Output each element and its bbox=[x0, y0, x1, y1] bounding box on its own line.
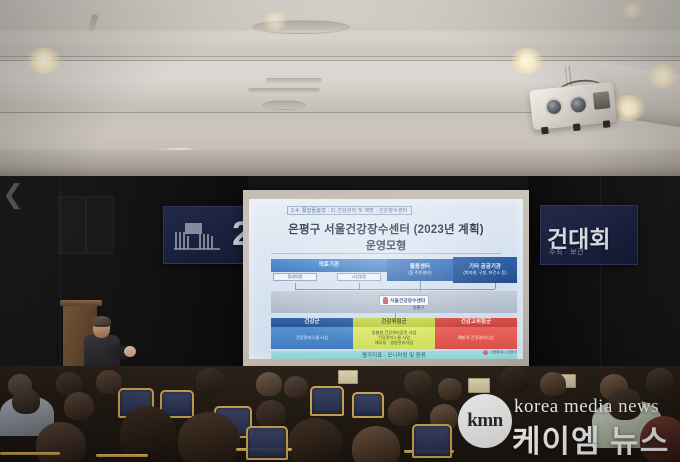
slide-subtitle: 운영모형 bbox=[249, 237, 523, 253]
wall-door-panel-b bbox=[86, 196, 114, 254]
conference-photo-scene: ❮ 2 건대회 주최 · 보건 2-4. 통합돌봄형 : 2) 건강관리 및 예… bbox=[0, 0, 680, 462]
projector-foot-mid bbox=[573, 123, 581, 131]
column-body-high-risk: 예방적 건강관리사업 bbox=[435, 327, 517, 349]
ceiling-vent-2 bbox=[266, 78, 322, 83]
projector-control-panel bbox=[593, 91, 611, 110]
column-body-healthy: 건강관리스쿨 사업 bbox=[271, 327, 353, 349]
connector-3 bbox=[495, 283, 496, 289]
ceiling-projector bbox=[529, 82, 617, 131]
conference-emblem-icon bbox=[172, 219, 224, 253]
projector-lens-left bbox=[544, 97, 564, 117]
chair bbox=[412, 424, 452, 458]
audience-head bbox=[404, 370, 432, 395]
audience-head bbox=[608, 388, 642, 420]
podium-top bbox=[60, 300, 102, 306]
center-badge-label: 서울건강장수센터 bbox=[390, 297, 425, 304]
diagram-box-public-orgs-sub: (복지관, 구청, 보건소 등) bbox=[463, 271, 506, 276]
footer-evaluation-label: 평가지표 · 모니터링 및 환류 bbox=[362, 353, 426, 359]
chair-frame-bar bbox=[96, 454, 148, 457]
audience-head bbox=[178, 412, 240, 462]
audience-head bbox=[256, 400, 286, 428]
audience-head bbox=[36, 422, 86, 462]
diagram-sublabel-hospital: 시립병원 bbox=[337, 273, 381, 281]
presentation-slide: 2-4. 통합돌봄형 : 2) 건강관리 및 예방 : 건강장수센터 은평구 서… bbox=[249, 199, 523, 359]
column-header-healthy: 건강군 bbox=[271, 318, 353, 327]
diagram-box-care-center-sub: (동 주민센터) bbox=[408, 271, 431, 276]
chair-frame-bar bbox=[0, 452, 60, 455]
diagram-sublabel-clinic: 동네의원 bbox=[273, 273, 317, 281]
ceiling-vent-3 bbox=[248, 88, 320, 93]
center-badge-icon bbox=[383, 297, 388, 304]
audience-head bbox=[640, 416, 680, 462]
column-header-at-risk-label: 건강위험군 bbox=[381, 319, 406, 325]
ceiling-light-1 bbox=[26, 48, 62, 74]
column-header-healthy-label: 건강군 bbox=[304, 319, 319, 325]
audience-head bbox=[196, 368, 224, 394]
exit-arrow-icon: ❮ bbox=[2, 182, 24, 208]
center-badge-caption: 은평구 bbox=[413, 305, 424, 311]
name-card bbox=[338, 370, 358, 384]
slide-section-tag: 2-4. 통합돌봄형 : 2) 건강관리 및 예방 : 건강장수센터 bbox=[287, 206, 412, 215]
chair bbox=[246, 426, 288, 460]
projector-foot-left bbox=[541, 127, 549, 135]
speaker-glasses-icon bbox=[95, 325, 109, 328]
banner-left: 2 bbox=[163, 206, 255, 264]
chair bbox=[310, 386, 344, 416]
diagram-box-care-center: 돌봄센터 (동 주민센터) bbox=[387, 259, 453, 281]
slide-logo-icon bbox=[483, 350, 488, 355]
column-body-high-risk-text: 예방적 건강관리사업 bbox=[458, 336, 494, 341]
connector-bus bbox=[295, 289, 495, 290]
ceiling-vent-4 bbox=[262, 100, 306, 110]
slide-logo-text: 서울특별시 은평구 bbox=[490, 350, 517, 355]
audience-head bbox=[438, 378, 462, 400]
column-body-at-risk: 맞춤형 건강관리증진 사업 건강관리스쿨 사업 에너지 · 영양관리사업 bbox=[353, 327, 435, 349]
chair bbox=[352, 392, 384, 418]
banner-right-subtitle: 주최 · 보건 bbox=[549, 247, 584, 257]
column-header-high-risk: 건강고위험군 bbox=[435, 318, 517, 327]
audience-head bbox=[388, 398, 418, 426]
diagram-box-public-orgs: 기타 공공기관 (복지관, 구청, 보건소 등) bbox=[453, 257, 517, 283]
slide-title: 은평구 서울건강장수센터 (2023년 계획) bbox=[249, 221, 523, 237]
slide-divider bbox=[271, 253, 501, 254]
column-body-healthy-text: 건강관리스쿨 사업 bbox=[296, 336, 328, 341]
banner-right: 건대회 주최 · 보건 bbox=[540, 205, 638, 265]
projector-foot-right bbox=[603, 120, 611, 128]
audience-head bbox=[256, 372, 282, 396]
ceiling-light-2 bbox=[510, 48, 544, 74]
audience-head bbox=[12, 388, 40, 414]
column-header-high-risk-label: 건강고위험군 bbox=[461, 319, 491, 325]
ceiling-light-6 bbox=[620, 2, 644, 18]
ceiling-light-3 bbox=[648, 64, 678, 88]
diagram-sublabel-clinic-text: 동네의원 bbox=[288, 275, 303, 280]
audience-head bbox=[646, 368, 674, 394]
audience-area bbox=[0, 366, 680, 462]
diagram-box-medical: 의료기관 bbox=[271, 259, 387, 272]
projector-lens-right bbox=[568, 94, 589, 115]
ceiling-light-5 bbox=[262, 12, 288, 30]
column-header-at-risk: 건강위험군 bbox=[353, 318, 435, 327]
audience-head bbox=[64, 392, 94, 420]
diagram-box-medical-label: 의료기관 bbox=[319, 262, 339, 268]
audience-head bbox=[500, 366, 530, 393]
slide-organization-logo: 서울특별시 은평구 bbox=[483, 350, 517, 355]
column-body-at-risk-text: 맞춤형 건강관리증진 사업 건강관리스쿨 사업 에너지 · 영양관리사업 bbox=[372, 331, 417, 345]
audience-head bbox=[540, 372, 566, 396]
speaker-hand bbox=[124, 346, 136, 357]
audience-head bbox=[284, 376, 308, 398]
ceiling-light-4 bbox=[612, 95, 646, 121]
diagram-sublabel-hospital-text: 시립병원 bbox=[352, 275, 367, 280]
audience-head bbox=[352, 426, 400, 462]
footer-evaluation-bar: 평가지표 · 모니터링 및 환류 bbox=[271, 351, 517, 359]
audience-head bbox=[288, 418, 342, 462]
ceiling-seam-1 bbox=[0, 56, 680, 57]
wall-door-panel-a bbox=[58, 196, 86, 254]
name-card bbox=[468, 378, 490, 393]
audience-head bbox=[96, 370, 122, 394]
